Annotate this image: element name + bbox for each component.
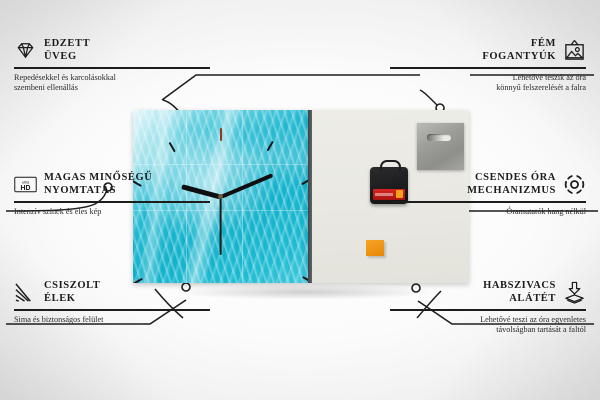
divider — [390, 309, 586, 311]
clock-center-hub — [218, 194, 223, 199]
feature-header: CSISZOLT ÉLEK — [14, 280, 210, 305]
feature-header: ultra HD MAGAS MINŐSÉGŰ NYOMTATÁS — [14, 172, 210, 197]
feature-title: CSENDES ÓRA MECHANIZMUS — [467, 172, 556, 197]
polished-edge-icon — [14, 281, 37, 304]
metal-hanger-bracket — [417, 123, 464, 170]
feature-title: HABSZIVACS ALÁTÉT — [483, 280, 556, 305]
feature-hq-print[interactable]: ultra HD MAGAS MINŐSÉGŰ NYOMTATÁS Intenz… — [14, 172, 210, 217]
mechanism-hook — [380, 160, 401, 171]
feature-desc-line2: szembeni ellenállás — [14, 83, 210, 94]
feature-desc-line1: Repedésekkel és karcolásokkal — [14, 73, 210, 84]
feature-silent-mechanism[interactable]: CSENDES ÓRA MECHANIZMUS Óramutatók hang … — [390, 172, 586, 217]
clock-tick — [220, 128, 222, 197]
feature-header: HABSZIVACS ALÁTÉT — [390, 280, 586, 305]
divider — [14, 67, 210, 69]
infographic-canvas: EDZETT ÜVEG Repedésekkel és karcolásokka… — [0, 0, 600, 400]
feature-polished-edges[interactable]: CSISZOLT ÉLEK Sima és biztonságos felüle… — [14, 280, 210, 325]
feature-foam-pad[interactable]: HABSZIVACS ALÁTÉT Lehetővé teszi az óra … — [390, 280, 586, 336]
feature-header: EDZETT ÜVEG — [14, 38, 210, 63]
svg-text:ultra: ultra — [22, 180, 30, 184]
feature-desc-line1: Sima és biztonságos felület — [14, 315, 210, 326]
feature-tempered-glass[interactable]: EDZETT ÜVEG Repedésekkel és karcolásokka… — [14, 38, 210, 94]
picture-hanger-icon — [563, 39, 586, 62]
feature-header: FÉM FOGANTYÚK — [390, 38, 586, 63]
feature-title: EDZETT ÜVEG — [44, 38, 90, 63]
divider — [14, 201, 210, 203]
feature-header: CSENDES ÓRA MECHANIZMUS — [390, 172, 586, 197]
divider — [14, 309, 210, 311]
diamond-icon — [14, 39, 37, 62]
feature-desc-line2: könnyű felszerelését a falra — [390, 83, 586, 94]
glass-edge — [308, 110, 312, 283]
divider — [390, 201, 586, 203]
clock-tick — [222, 266, 224, 284]
hanger-slot — [427, 134, 451, 141]
feature-desc-line1: Lehetővé teszi az óra egyenletes — [390, 315, 586, 326]
feature-desc-line2: távolságban tartását a faltól — [390, 325, 586, 336]
divider — [390, 67, 586, 69]
svg-text:HD: HD — [21, 185, 31, 192]
clock-second-hand — [220, 197, 222, 255]
feature-desc-line1: Lehetővé teszik az óra — [390, 73, 586, 84]
feature-title: FÉM FOGANTYÚK — [482, 38, 556, 63]
foam-pad — [366, 240, 384, 256]
feature-desc-line1: Intenzív színek és éles kép — [14, 207, 210, 218]
clock-tick — [256, 229, 308, 231]
clock-tick — [133, 231, 187, 233]
feature-title: CSISZOLT ÉLEK — [44, 280, 100, 305]
ultra-hd-icon: ultra HD — [14, 173, 37, 196]
foam-pad-icon — [563, 281, 586, 304]
feature-title: MAGAS MINŐSÉGŰ NYOMTATÁS — [44, 172, 152, 197]
gear-icon — [563, 173, 586, 196]
feature-metal-handles[interactable]: FÉM FOGANTYÚK Lehetővé teszik az óra kön… — [390, 38, 586, 94]
feature-desc-line1: Óramutatók hang nélkül — [390, 207, 586, 218]
